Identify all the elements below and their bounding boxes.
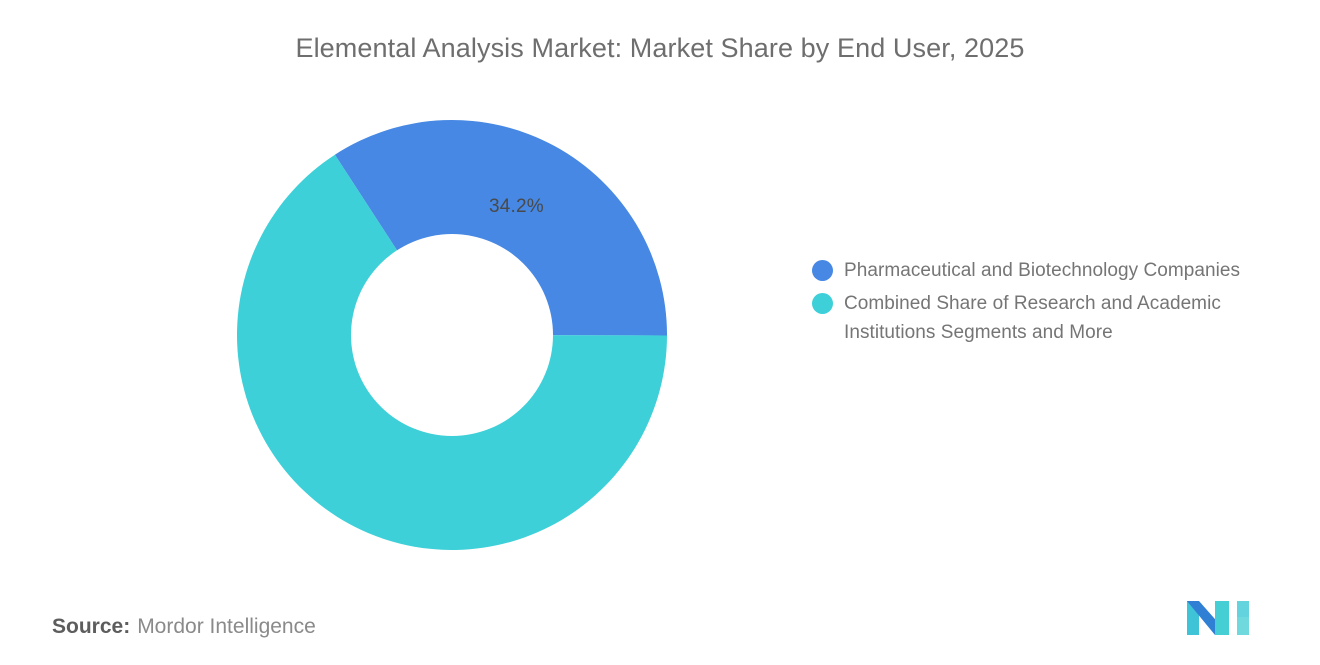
- source-value: Mordor Intelligence: [137, 615, 316, 638]
- legend-swatch-icon-combined-share: [812, 293, 833, 314]
- legend-label-pharmaceutical: Pharmaceutical and Biotechnology Compani…: [844, 256, 1240, 285]
- legend-item-combined-share[interactable]: Combined Share of Research and Academic …: [812, 289, 1302, 347]
- mi-monogram-icon: [1185, 597, 1253, 637]
- donut-hole: [351, 234, 553, 436]
- chart-canvas: Elemental Analysis Market: Market Share …: [0, 0, 1320, 665]
- source-line: Source:Mordor Intelligence: [52, 612, 316, 642]
- slice-value-label-pharmaceutical: 34.2%: [489, 196, 544, 218]
- legend-item-pharmaceutical[interactable]: Pharmaceutical and Biotechnology Compani…: [812, 256, 1302, 285]
- chart-legend: Pharmaceutical and Biotechnology Compani…: [812, 256, 1302, 351]
- page-title: Elemental Analysis Market: Market Share …: [0, 29, 1320, 67]
- donut-chart: [237, 120, 667, 550]
- mordor-intelligence-logo: [1185, 597, 1253, 637]
- legend-swatch-icon-pharmaceutical: [812, 260, 833, 281]
- legend-label-combined-share: Combined Share of Research and Academic …: [844, 289, 1292, 347]
- source-label: Source:: [52, 615, 130, 638]
- donut-chart-svg: [237, 120, 667, 550]
